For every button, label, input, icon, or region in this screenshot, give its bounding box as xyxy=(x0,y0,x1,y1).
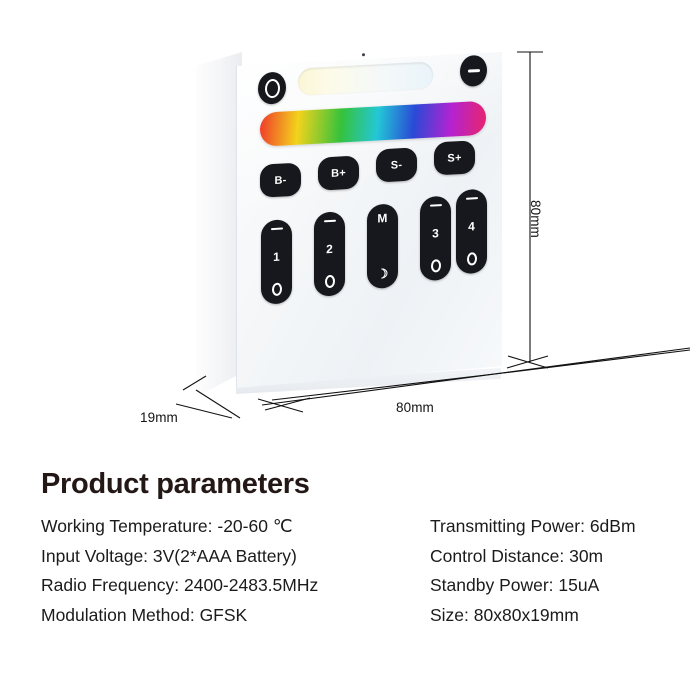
spec-radio-frequency: Radio Frequency: 2400-2483.5MHz xyxy=(41,571,318,601)
specifications-section: Product parameters Working Temperature: … xyxy=(0,455,700,700)
spec-modulation-method: Modulation Method: GFSK xyxy=(41,601,318,631)
specs-title: Product parameters xyxy=(41,468,310,501)
product-image-page: B- B+ S- S+ 1 2 M ☽ xyxy=(0,0,700,700)
dimension-lines xyxy=(0,0,700,455)
spec-control-distance: Control Distance: 30m xyxy=(430,542,636,572)
spec-size: Size: 80x80x19mm xyxy=(430,601,636,631)
dimension-depth: 19mm xyxy=(140,410,178,425)
specs-left-column: Working Temperature: -20-60 ℃ Input Volt… xyxy=(41,512,318,630)
product-photo: B- B+ S- S+ 1 2 M ☽ xyxy=(0,0,700,455)
specs-right-column: Transmitting Power: 6dBm Control Distanc… xyxy=(430,512,636,630)
dimension-height: 80mm xyxy=(528,200,543,238)
spec-transmitting-power: Transmitting Power: 6dBm xyxy=(430,512,636,542)
spec-standby-power: Standby Power: 15uA xyxy=(430,571,636,601)
dimension-width: 80mm xyxy=(396,400,434,415)
spec-input-voltage: Input Voltage: 3V(2*AAA Battery) xyxy=(41,542,318,572)
spec-working-temperature: Working Temperature: -20-60 ℃ xyxy=(41,512,318,542)
